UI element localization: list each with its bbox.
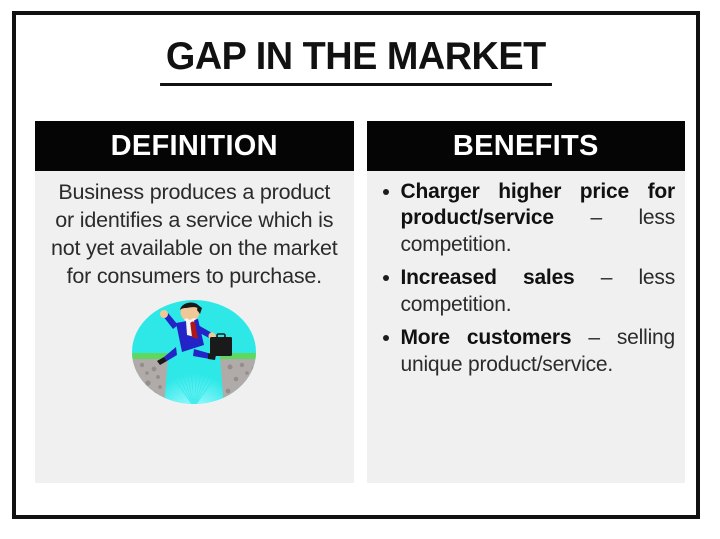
definition-column: DEFINITION Business produces a product o… bbox=[35, 121, 354, 483]
benefits-column: BENEFITS Charger higher price for produc… bbox=[367, 121, 686, 483]
benefits-header: BENEFITS bbox=[367, 121, 686, 171]
definition-text: Business produces a product or identifie… bbox=[43, 179, 346, 291]
list-item: Charger higher price for product/service… bbox=[381, 179, 676, 258]
definition-body: Business produces a product or identifie… bbox=[35, 171, 354, 483]
benefit-lead: More customers bbox=[401, 326, 572, 349]
columns-container: DEFINITION Business produces a product o… bbox=[35, 121, 685, 483]
definition-header: DEFINITION bbox=[35, 121, 354, 171]
list-item: Increased sales – less competition. bbox=[381, 265, 676, 318]
benefits-list: Charger higher price for product/service… bbox=[375, 179, 678, 378]
illustration-container bbox=[43, 295, 346, 410]
page-title: GAP IN THE MARKET bbox=[160, 37, 552, 86]
benefits-body: Charger higher price for product/service… bbox=[367, 171, 686, 483]
slide-frame: GAP IN THE MARKET DEFINITION Business pr… bbox=[12, 11, 700, 519]
businessman-jumping-gap-icon bbox=[120, 295, 268, 410]
page-title-container: GAP IN THE MARKET bbox=[16, 37, 696, 86]
list-item: More customers – selling unique product/… bbox=[381, 325, 676, 378]
businessman-jumping-gap-illustration bbox=[120, 295, 268, 410]
benefit-lead: Increased sales bbox=[401, 266, 575, 289]
